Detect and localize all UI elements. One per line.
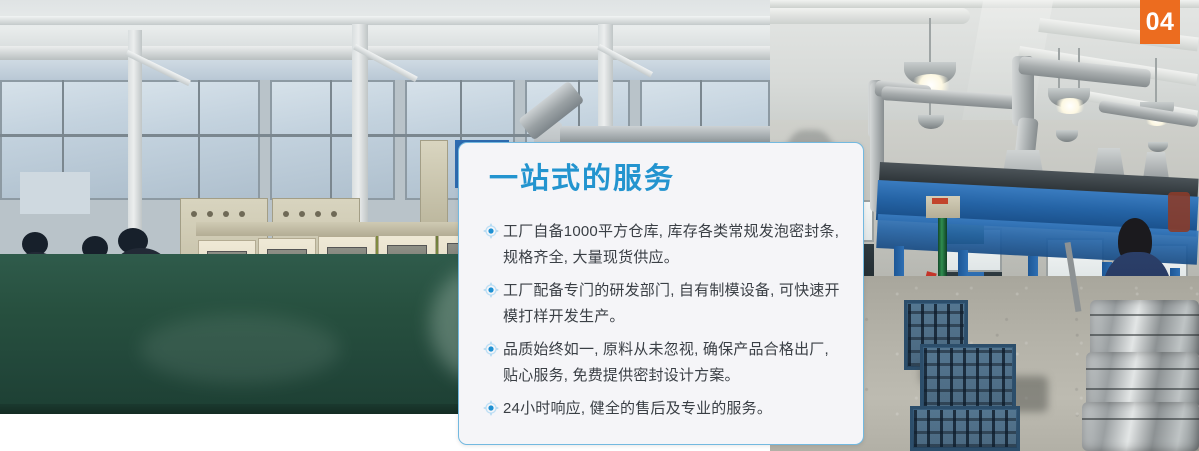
diamond-burst-icon (483, 400, 499, 416)
diamond-burst-icon (483, 282, 499, 298)
service-feature-list: 工厂自备1000平方仓库, 库存各类常规发泡密封条, 规格齐全, 大量现货供应。 (483, 219, 845, 429)
step-number: 04 (1146, 10, 1175, 35)
banner-stage: 04 一站式的服务 工厂自 (0, 0, 1199, 451)
service-info-card: 一站式的服务 工厂自备1000平方仓库, 库存各类常规 (458, 142, 864, 445)
list-item: 工厂自备1000平方仓库, 库存各类常规发泡密封条, 规格齐全, 大量现货供应。 (483, 219, 845, 271)
lamp-rod (929, 18, 931, 66)
metal-coil (1082, 402, 1199, 451)
list-item-text: 工厂自备1000平方仓库, 库存各类常规发泡密封条, 规格齐全, 大量现货供应。 (503, 219, 845, 271)
list-item: 品质始终如一, 原料从未忽视, 确保产品合格出厂, 贴心服务, 免费提供密封设计… (483, 337, 845, 389)
list-item: 24小时响应, 健全的售后及专业的服务。 (483, 396, 845, 422)
step-number-badge: 04 (1140, 0, 1180, 44)
list-item-text: 品质始终如一, 原料从未忽视, 确保产品合格出厂, 贴心服务, 免费提供密封设计… (503, 337, 845, 389)
diamond-burst-icon (483, 341, 499, 357)
list-item: 工厂配备专门的研发部门, 自有制模设备, 可快速开模打样开发生产。 (483, 278, 845, 330)
page-title: 一站式的服务 (489, 165, 675, 194)
diamond-burst-icon (483, 223, 499, 239)
metal-coil (1090, 300, 1199, 360)
list-item-text: 工厂配备专门的研发部门, 自有制模设备, 可快速开模打样开发生产。 (503, 278, 845, 330)
list-item-text: 24小时响应, 健全的售后及专业的服务。 (503, 396, 845, 422)
storage-crate (910, 406, 1020, 451)
lamp-rod (1155, 58, 1157, 104)
